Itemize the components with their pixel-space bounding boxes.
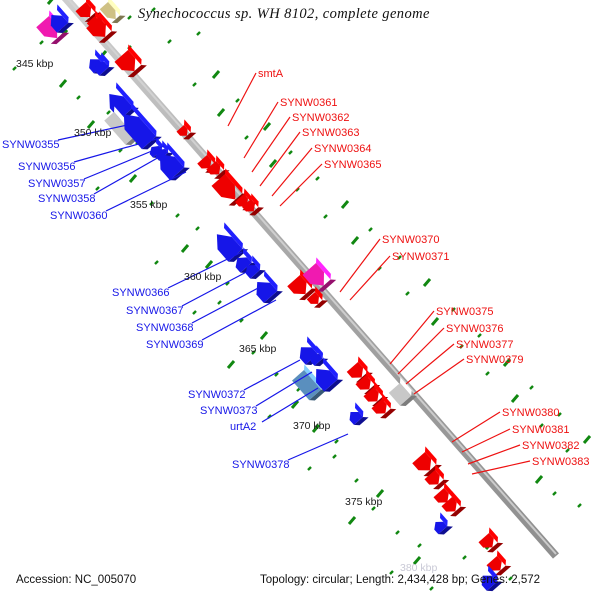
leader-line-reverse [262,388,318,422]
leader-line-forward [340,239,380,292]
ruler-tick-label: 350 kbp [74,127,111,139]
rna-marker [463,556,466,559]
leader-line-forward [390,311,434,364]
rna-marker [193,83,196,86]
ruler-tick-label: 360 kbp [184,271,221,283]
rna-marker [333,455,336,458]
leader-line-reverse [74,138,160,162]
rna-marker [228,361,234,368]
leader-line-reverse [192,286,262,323]
gene-label-reverse[interactable]: SYNW0356 [18,161,75,173]
leader-line-forward [228,73,256,126]
leader-line-forward [260,132,300,186]
gene-label-reverse[interactable]: SYNW0368 [136,322,193,334]
leader-line-forward [462,429,510,452]
gene-label-forward[interactable]: SYNW0371 [392,251,449,263]
rna-marker [182,245,188,252]
rna-marker [349,517,355,524]
rna-marker [168,40,171,43]
gene-label-forward[interactable]: SYNW0370 [382,234,439,246]
leader-line-forward [272,148,312,196]
gene-label-forward[interactable]: SYNW0382 [522,440,579,452]
rna-marker [218,109,224,116]
rna-marker [236,99,239,102]
gene-feature-layer [34,0,512,594]
rna-marker [96,187,99,190]
leader-line-reverse [94,152,168,194]
rna-marker [335,440,338,443]
rna-marker [128,16,131,19]
gene-label-reverse[interactable]: SYNW0367 [126,305,183,317]
gene-label-forward[interactable]: SYNW0364 [314,143,371,155]
gene-red-21 [476,527,503,555]
gene-label-reverse[interactable]: SYNW0357 [28,178,85,190]
ruler-tick-label: 345 kbp [16,58,53,70]
rna-marker [60,80,66,87]
leader-line-reverse [244,360,300,390]
gene-label-reverse[interactable]: SYNW0358 [38,193,95,205]
rna-marker [176,214,179,217]
ruler-tick-label: 380 kbp [400,562,437,574]
rna-marker [197,32,200,35]
rna-marker [355,479,358,482]
rna-marker [289,151,292,154]
accession-status: Accession: NC_005070 [16,574,136,586]
page-title: Synechococcus sp. WH 8102, complete geno… [138,6,430,23]
gene-label-forward[interactable]: SYNW0383 [532,456,589,468]
rna-marker [245,136,248,139]
topology-status: Topology: circular; Length: 2,434,428 bp… [260,574,540,586]
rna-marker [432,318,438,325]
rna-marker [324,215,327,218]
rna-marker [308,467,311,470]
gene-label-forward[interactable]: SYNW0376 [446,323,503,335]
gene-blue-17 [428,512,453,537]
rna-marker [530,386,533,389]
rna-marker [396,531,399,534]
rna-marker [40,41,43,44]
gene-blue-16 [343,402,368,428]
gene-label-reverse[interactable]: SYNW0372 [188,389,245,401]
gene-label-reverse[interactable]: SYNW0369 [146,339,203,351]
rna-marker [584,436,590,443]
rna-marker [48,0,54,4]
rna-marker [213,71,219,78]
genome-map-canvas [0,0,600,600]
gene-label-forward[interactable]: SYNW0381 [512,424,569,436]
rna-marker [193,311,196,314]
gene-label-reverse[interactable]: SYNW0355 [2,139,59,151]
gene-label-forward[interactable]: SYNW0377 [456,339,513,351]
rna-marker [512,395,518,402]
rna-marker [418,544,421,547]
gene-label-forward[interactable]: SYNW0362 [292,112,349,124]
gene-label-forward[interactable]: SYNW0379 [466,354,523,366]
gene-label-reverse[interactable]: SYNW0378 [232,459,289,471]
gene-label-reverse[interactable]: SYNW0360 [50,210,107,222]
rna-marker [261,332,267,339]
ruler-tick-label: 365 kbp [239,343,276,355]
rna-marker [578,504,581,507]
leader-line-forward [414,359,464,394]
rna-marker [196,227,199,230]
rna-marker [107,111,110,114]
rna-marker [342,201,348,208]
rna-marker [430,587,433,590]
rna-marker [486,372,489,375]
gene-label-reverse[interactable]: SYNW0366 [112,287,169,299]
ruler-tick-label: 370 kbp [293,420,330,432]
rna-marker [553,492,556,495]
rna-marker [536,476,542,483]
rna-marker [424,279,430,286]
gene-label-forward[interactable]: SYNW0361 [280,97,337,109]
leader-line-forward [244,102,278,158]
gene-label-forward[interactable]: SYNW0363 [302,127,359,139]
leader-line-forward [406,344,454,384]
gene-label-forward[interactable]: SYNW0375 [436,306,493,318]
rna-marker [316,177,319,180]
gene-label-reverse[interactable]: urtA2 [230,421,256,433]
gene-label-forward[interactable]: SYNW0365 [324,159,381,171]
leader-line-forward [350,256,390,300]
rna-marker [406,292,409,295]
gene-label-forward[interactable]: SYNW0380 [502,407,559,419]
rna-marker [352,237,358,244]
ruler-tick-label: 355 kbp [130,199,167,211]
leader-line-forward [280,164,322,206]
leader-line-reverse [288,434,348,460]
gene-label-reverse[interactable]: SYNW0373 [200,405,257,417]
gene-label-forward[interactable]: smtA [258,68,283,80]
genome-map-viewer: Synechococcus sp. WH 8102, complete geno… [0,0,600,600]
rna-marker [155,261,158,264]
leader-line-forward [468,445,520,464]
rna-marker [369,228,372,231]
rna-marker [77,96,80,99]
leader-line-reverse [84,146,164,179]
leader-line-forward [398,328,444,374]
ruler-tick-label: 375 kbp [345,496,382,508]
rna-marker [218,301,221,304]
rna-marker [130,175,136,182]
